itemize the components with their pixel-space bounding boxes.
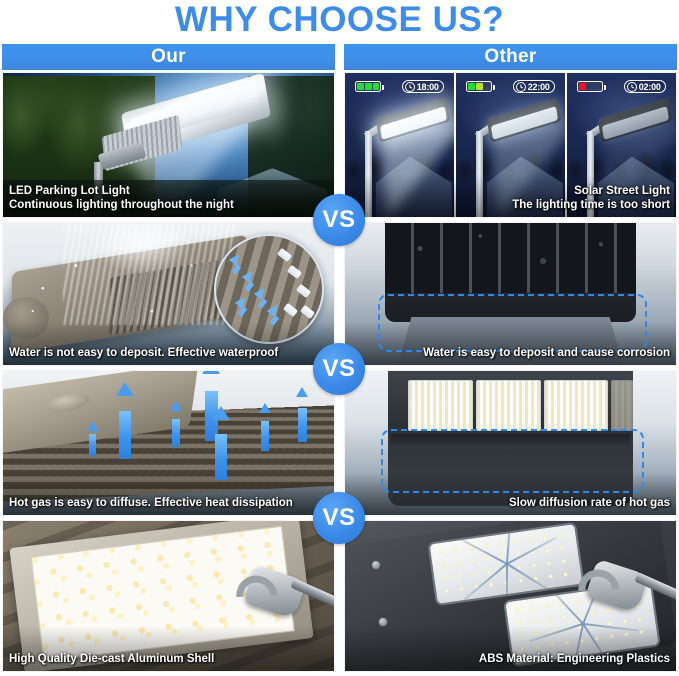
caption-our-lighting-duration: LED Parking Lot Light Continuous lightin… [9, 184, 234, 212]
page-title: WHY CHOOSE US? [0, 0, 679, 42]
panel-our-lighting-duration: LED Parking Lot Light Continuous lightin… [2, 72, 335, 218]
caption-our-waterproof: Water is not easy to deposit. Effective … [9, 346, 278, 360]
caption-other-corrosion: Water is easy to deposit and cause corro… [423, 346, 670, 360]
led-module-3 [544, 380, 609, 431]
highlight-dashed-box [381, 429, 643, 493]
heat-arrow-1 [119, 411, 131, 459]
heat-arrow-5 [261, 421, 269, 451]
water-splash-scene [3, 223, 334, 365]
led-module-4 [611, 380, 633, 431]
clock-time-label: 02:00 [639, 82, 661, 92]
vs-badge-row-1: VS [313, 194, 365, 246]
caption-other-abs-material: ABS Material: Engineering Plastics [479, 652, 670, 666]
panel-our-waterproof: Water is not easy to deposit. Effective … [2, 222, 335, 366]
heat-arrow-6 [298, 408, 307, 442]
stage-1-badges: 18:00 [345, 80, 454, 93]
clock-icon [516, 82, 526, 92]
stage-lamp-pole [365, 131, 372, 217]
panel-other-corrosion: Water is easy to deposit and cause corro… [344, 222, 677, 366]
solar-stage-1: 18:00 [345, 73, 454, 217]
panel-other-slow-diffusion: Slow diffusion rate of hot gas [344, 370, 677, 516]
heat-arrow-4 [215, 434, 227, 480]
panel-our-heat-dissipation: Hot gas is easy to diffuse. Effective he… [2, 370, 335, 516]
caption-other-lighting-duration: Solar Street Light The lighting time is … [512, 184, 670, 212]
battery-icon [466, 81, 492, 92]
caption-other-slow-diffusion: Slow diffusion rate of hot gas [509, 496, 670, 510]
panel-other-abs-material: ABS Material: Engineering Plastics [344, 520, 677, 672]
corrosion-scene [345, 223, 676, 365]
led-module-2 [476, 380, 541, 431]
clock-icon [405, 82, 415, 92]
stage-2-badges: 22:00 [456, 80, 565, 93]
why-choose-us-infographic: WHY CHOOSE US? Our Other LED Parking Lot… [0, 0, 679, 676]
panel-our-aluminum-shell: High Quality Die-cast Aluminum Shell [2, 520, 335, 672]
abs-material-scene [345, 521, 676, 671]
column-header-our: Our [2, 44, 335, 70]
heat-arrow-7 [89, 434, 96, 456]
heat-arrow-2 [172, 419, 180, 447]
column-header-other: Other [344, 44, 677, 70]
aluminum-shell-scene [3, 521, 334, 671]
highlight-dashed-box [378, 294, 647, 352]
led-module-1 [408, 380, 473, 431]
clock-time-badge: 02:00 [624, 80, 666, 93]
stage-lamp-pole [476, 131, 483, 217]
slow-diffusion-scene [345, 371, 676, 515]
caption-our-heat-dissipation: Hot gas is easy to diffuse. Effective he… [9, 496, 293, 510]
clock-icon [627, 82, 637, 92]
panel-other-lighting-duration: 18:00 [344, 72, 677, 218]
battery-icon [355, 81, 381, 92]
heat-dissipation-scene [3, 371, 334, 515]
clock-time-badge: 22:00 [513, 80, 555, 93]
caption-our-aluminum-shell: High Quality Die-cast Aluminum Shell [9, 652, 214, 666]
clock-time-label: 22:00 [528, 82, 550, 92]
zoom-detail-circle [214, 234, 324, 344]
stage-3-badges: 02:00 [567, 80, 676, 93]
vs-badge-row-2: VS [313, 343, 365, 395]
clock-time-label: 18:00 [417, 82, 439, 92]
battery-icon [577, 81, 603, 92]
vs-badge-row-3: VS [313, 492, 365, 544]
clock-time-badge: 18:00 [402, 80, 444, 93]
